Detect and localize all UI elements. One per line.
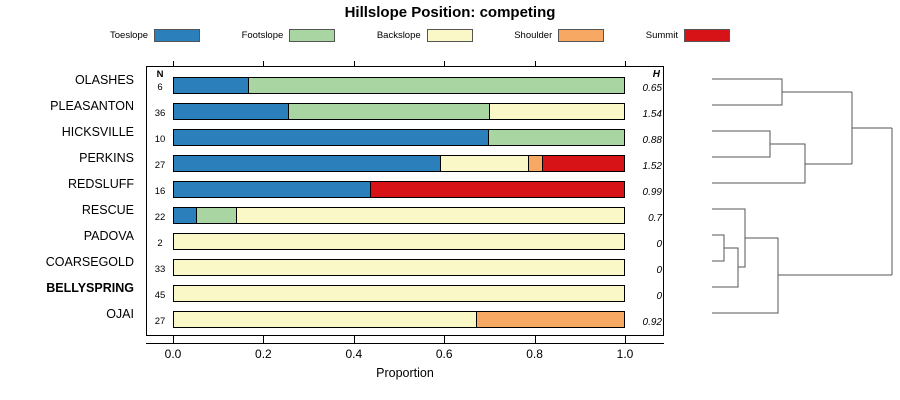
legend-label-footslope: Footslope <box>242 30 284 41</box>
y-axis-labels: OLASHESPLEASANTONHICKSVILLEPERKINSREDSLU… <box>0 66 140 336</box>
legend-item-summit: Summit <box>646 29 730 42</box>
row-h-value: 0.7 <box>628 213 662 224</box>
x-tick-label: 0.6 <box>436 347 453 361</box>
table-row: 160.99 <box>147 177 663 203</box>
bar-segment-toeslope <box>174 208 197 223</box>
bar-segment-backslope <box>174 312 477 327</box>
x-tick-label: 0.0 <box>165 347 182 361</box>
y-axis-label-olashes: OLASHES <box>75 74 134 87</box>
row-h-value: 0.65 <box>628 83 662 94</box>
bar-rows: 60.65361.54100.88271.52160.99220.7203304… <box>147 67 663 335</box>
stacked-bar <box>173 233 625 250</box>
legend-swatch-backslope <box>427 29 473 42</box>
x-tick-label: 1.0 <box>617 347 634 361</box>
legend-item-shoulder: Shoulder <box>514 29 604 42</box>
plot-area: N H 60.65361.54100.88271.52160.99220.720… <box>146 66 664 336</box>
table-row: 60.65 <box>147 73 663 99</box>
stacked-bar <box>173 77 625 94</box>
dendro-join-with-redsluff <box>712 144 805 183</box>
row-n-value: 36 <box>147 108 173 119</box>
row-h-value: 0 <box>628 265 662 276</box>
top-tick <box>444 61 445 67</box>
stacked-bar <box>173 129 625 146</box>
row-h-value: 0.88 <box>628 135 662 146</box>
bar-segment-footslope <box>249 78 624 93</box>
table-row: 271.52 <box>147 151 663 177</box>
x-tick <box>173 336 174 343</box>
legend-swatch-footslope <box>289 29 335 42</box>
bar-segment-backslope <box>237 208 624 223</box>
legend-swatch-summit <box>684 29 730 42</box>
bar-segment-toeslope <box>174 156 441 171</box>
x-tick <box>444 336 445 343</box>
table-row: 20 <box>147 229 663 255</box>
chart-root: Hillslope Position: competing Toeslope F… <box>0 0 900 400</box>
row-h-value: 1.52 <box>628 161 662 172</box>
bar-segment-backslope <box>174 260 624 275</box>
bar-segment-toeslope <box>174 78 249 93</box>
stacked-bar <box>173 155 625 172</box>
bar-segment-footslope <box>289 104 490 119</box>
table-row: 270.92 <box>147 307 663 333</box>
table-row: 361.54 <box>147 99 663 125</box>
bar-segment-toeslope <box>174 130 489 145</box>
dendro-join-hicksville-perkins <box>712 131 770 157</box>
legend-label-summit: Summit <box>646 30 678 41</box>
row-n-value: 27 <box>147 160 173 171</box>
x-tick <box>354 336 355 343</box>
x-axis-line <box>146 343 664 344</box>
y-axis-label-perkins: PERKINS <box>79 152 134 165</box>
bar-segment-backslope <box>490 104 624 119</box>
legend-label-toeslope: Toeslope <box>110 30 148 41</box>
row-h-value: 0 <box>628 291 662 302</box>
x-tick-label: 0.8 <box>526 347 543 361</box>
bar-segment-backslope <box>174 286 624 301</box>
y-axis-label-hicksville: HICKSVILLE <box>62 126 134 139</box>
stacked-bar <box>173 181 625 198</box>
stacked-bar <box>173 103 625 120</box>
bar-segment-shoulder <box>529 156 543 171</box>
dendro-join-padova-coarsegold <box>712 235 724 261</box>
row-n-value: 6 <box>147 82 173 93</box>
x-tick <box>263 336 264 343</box>
bar-segment-backslope <box>441 156 529 171</box>
x-axis-title: Proportion <box>146 366 664 380</box>
table-row: 220.7 <box>147 203 663 229</box>
x-tick-label: 0.2 <box>255 347 272 361</box>
stacked-bar <box>173 207 625 224</box>
dendrogram-svg <box>700 60 900 340</box>
y-axis-label-padova: PADOVA <box>84 230 134 243</box>
row-h-value: 0.99 <box>628 187 662 198</box>
top-tick <box>625 61 626 67</box>
legend-item-toeslope: Toeslope <box>110 29 200 42</box>
stacked-bar <box>173 311 625 328</box>
table-row: 330 <box>147 255 663 281</box>
dendrogram <box>700 60 900 340</box>
legend-item-backslope: Backslope <box>377 29 473 42</box>
x-tick <box>535 336 536 343</box>
top-tick <box>173 61 174 67</box>
bar-segment-summit <box>371 182 624 197</box>
stacked-bar <box>173 285 625 302</box>
y-axis-label-pleasanton: PLEASANTON <box>50 100 134 113</box>
row-h-value: 0 <box>628 239 662 250</box>
bar-segment-shoulder <box>477 312 624 327</box>
dendro-join-with-bellyspring <box>712 248 738 287</box>
bar-segment-footslope <box>197 208 238 223</box>
x-tick-label: 0.4 <box>345 347 362 361</box>
top-tick <box>263 61 264 67</box>
dendro-join-with-rescue <box>712 209 745 267</box>
row-h-value: 0.92 <box>628 317 662 328</box>
top-tick <box>354 61 355 67</box>
y-axis-label-coarsegold: COARSEGOLD <box>46 256 134 269</box>
row-n-value: 10 <box>147 134 173 145</box>
y-axis-label-bellyspring: BELLYSPRING <box>46 282 134 295</box>
bar-segment-footslope <box>489 130 624 145</box>
row-n-value: 2 <box>147 238 173 249</box>
stacked-bar <box>173 259 625 276</box>
legend-item-footslope: Footslope <box>242 29 336 42</box>
table-row: 450 <box>147 281 663 307</box>
y-axis-label-redsluff: REDSLUFF <box>68 178 134 191</box>
legend-label-shoulder: Shoulder <box>514 30 552 41</box>
bar-segment-toeslope <box>174 104 289 119</box>
page-title: Hillslope Position: competing <box>0 4 900 21</box>
row-n-value: 45 <box>147 290 173 301</box>
top-tick <box>535 61 536 67</box>
row-h-value: 1.54 <box>628 109 662 120</box>
legend-swatch-shoulder <box>558 29 604 42</box>
table-row: 100.88 <box>147 125 663 151</box>
legend-swatch-toeslope <box>154 29 200 42</box>
row-n-value: 27 <box>147 316 173 327</box>
x-tick <box>625 336 626 343</box>
row-n-value: 16 <box>147 186 173 197</box>
bar-segment-toeslope <box>174 182 371 197</box>
legend-label-backslope: Backslope <box>377 30 421 41</box>
dendro-join-olashes-pleasanton <box>712 79 782 105</box>
y-axis-label-rescue: RESCUE <box>82 204 134 217</box>
bar-segment-summit <box>543 156 624 171</box>
row-n-value: 33 <box>147 264 173 275</box>
y-axis-label-ojai: OJAI <box>106 308 134 321</box>
legend: Toeslope Footslope Backslope Shoulder Su… <box>110 26 730 44</box>
row-n-value: 22 <box>147 212 173 223</box>
bar-segment-backslope <box>174 234 624 249</box>
